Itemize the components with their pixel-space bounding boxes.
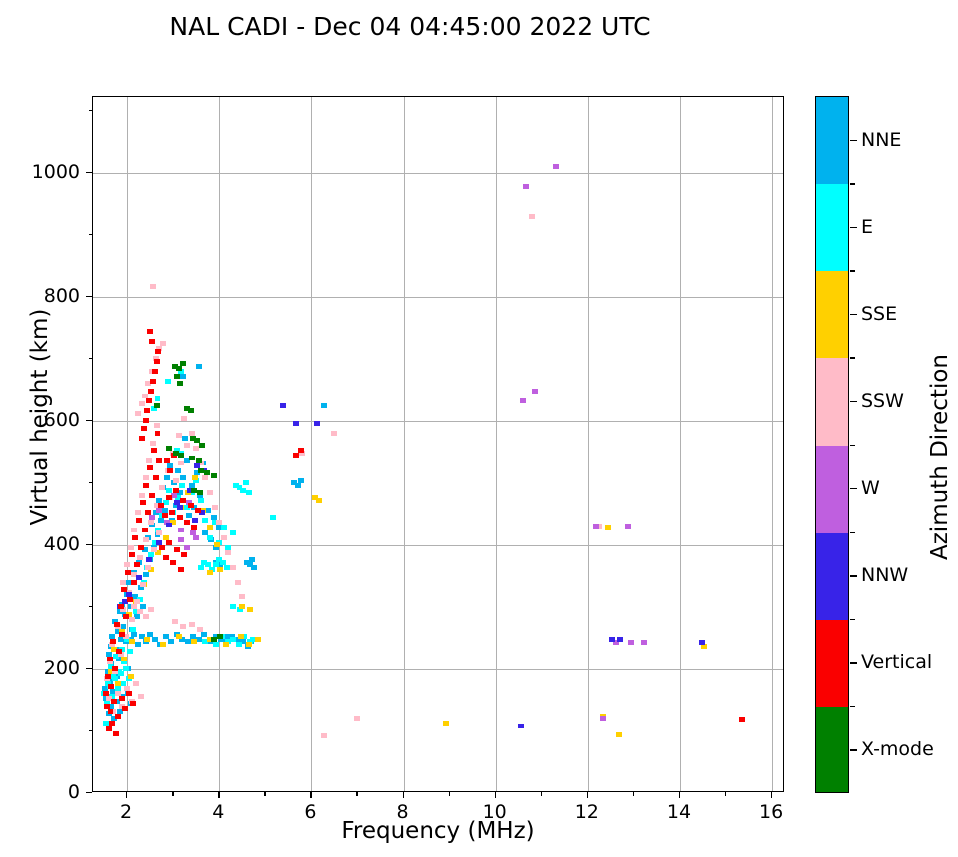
- scatter-point: [155, 349, 161, 354]
- colorbar-tick-mark: [850, 314, 857, 315]
- scatter-point: [171, 493, 177, 498]
- colorbar-label-sse: SSE: [861, 303, 897, 325]
- scatter-point: [130, 701, 136, 706]
- scatter-point: [553, 164, 559, 169]
- scatter-point: [109, 721, 115, 726]
- scatter-point: [221, 525, 227, 530]
- scatter-point: [211, 473, 217, 478]
- colorbar-boundary-tick: [850, 357, 855, 358]
- scatter-point: [207, 535, 213, 540]
- scatter-point: [143, 483, 149, 488]
- colorbar-band-ssw[interactable]: [816, 358, 848, 445]
- scatter-point: [189, 456, 195, 461]
- scatter-point: [197, 627, 203, 632]
- scatter-point: [230, 565, 236, 570]
- scatter-point: [178, 453, 184, 458]
- scatter-point: [164, 458, 170, 463]
- scatter-point: [186, 513, 192, 518]
- scatter-point: [108, 684, 114, 689]
- scatter-point: [170, 560, 176, 565]
- scatter-point: [177, 381, 183, 386]
- x-tick-minor: [172, 792, 173, 796]
- scatter-point: [136, 518, 142, 523]
- y-tick-minor: [89, 730, 93, 731]
- y-tick-minor: [89, 234, 93, 235]
- scatter-point: [141, 426, 147, 431]
- x-tick-minor: [541, 792, 542, 796]
- scatter-point: [123, 666, 129, 671]
- colorbar-label-nnw: NNW: [861, 564, 908, 586]
- scatter-point: [235, 580, 241, 585]
- scatter-point: [532, 389, 538, 394]
- scatter-point: [239, 594, 245, 599]
- scatter-point: [180, 498, 186, 503]
- gridline-vertical: [404, 97, 405, 791]
- scatter-point: [605, 525, 611, 530]
- scatter-point: [177, 505, 183, 510]
- scatter-point: [148, 520, 154, 525]
- gridline-vertical: [772, 97, 773, 791]
- gridline-horizontal: [93, 297, 783, 298]
- scatter-point: [135, 411, 141, 416]
- x-tick-mark: [587, 792, 588, 798]
- scatter-point: [124, 562, 130, 567]
- scatter-point: [180, 374, 186, 379]
- x-tick-mark: [126, 792, 127, 798]
- scatter-point: [202, 518, 208, 523]
- scatter-point: [280, 403, 286, 408]
- scatter-point: [249, 557, 255, 562]
- y-tick-minor: [89, 606, 93, 607]
- scatter-point: [150, 284, 156, 289]
- scatter-point: [198, 498, 204, 503]
- colorbar-boundary-tick: [850, 270, 855, 271]
- scatter-point: [125, 570, 131, 575]
- scatter-point: [223, 642, 229, 647]
- scatter-point: [224, 565, 230, 570]
- scatter-point: [156, 458, 162, 463]
- scatter-point: [158, 503, 164, 508]
- scatter-point: [150, 379, 156, 384]
- scatter-point: [149, 515, 155, 520]
- scatter-point: [140, 500, 146, 505]
- scatter-point: [207, 570, 213, 575]
- scatter-point: [189, 622, 195, 627]
- scatter-point: [178, 528, 184, 533]
- colorbar-band-x-mode[interactable]: [816, 707, 848, 793]
- colorbar-tick-mark: [850, 749, 857, 750]
- scatter-point: [609, 637, 615, 642]
- colorbar[interactable]: [815, 96, 849, 793]
- scatter-point: [523, 184, 529, 189]
- plot-area[interactable]: [92, 96, 784, 792]
- scatter-point: [148, 389, 154, 394]
- scatter-point: [321, 403, 327, 408]
- gridline-vertical: [311, 97, 312, 791]
- scatter-point: [154, 403, 160, 408]
- scatter-point: [108, 709, 114, 714]
- scatter-point: [130, 627, 136, 632]
- scatter-point: [251, 565, 257, 570]
- scatter-point: [162, 513, 168, 518]
- scatter-point: [211, 637, 217, 642]
- scatter-point: [188, 408, 194, 413]
- figure-canvas: NAL CADI - Dec 04 04:45:00 2022 UTC 2468…: [0, 0, 958, 857]
- scatter-point: [114, 622, 120, 627]
- scatter-point: [118, 671, 124, 676]
- scatter-point: [131, 632, 137, 637]
- scatter-point: [123, 614, 129, 619]
- scatter-point: [593, 524, 599, 529]
- scatter-point: [195, 508, 201, 513]
- gridline-vertical: [219, 97, 220, 791]
- scatter-point: [180, 475, 186, 480]
- scatter-point: [230, 604, 236, 609]
- scatter-point: [156, 530, 162, 535]
- scatter-point: [135, 642, 141, 647]
- gridline-vertical: [588, 97, 589, 791]
- scatter-point: [164, 475, 170, 480]
- scatter-point: [163, 555, 169, 560]
- scatter-point: [138, 694, 144, 699]
- scatter-point: [139, 401, 145, 406]
- gridline-horizontal: [93, 421, 783, 422]
- scatter-point: [143, 614, 149, 619]
- scatter-point: [143, 418, 149, 423]
- scatter-point: [443, 721, 449, 726]
- scatter-point: [314, 421, 320, 426]
- x-tick-minor: [633, 792, 634, 796]
- colorbar-label-ssw: SSW: [861, 390, 904, 412]
- scatter-point: [105, 674, 111, 679]
- scatter-point: [739, 717, 745, 722]
- scatter-point: [207, 525, 213, 530]
- scatter-point: [148, 607, 154, 612]
- scatter-point: [188, 503, 194, 508]
- colorbar-label-e: E: [861, 216, 873, 238]
- scatter-point: [132, 535, 138, 540]
- scatter-point: [147, 329, 153, 334]
- scatter-point: [331, 431, 337, 436]
- scatter-point: [185, 639, 191, 644]
- colorbar-label-nne: NNE: [861, 129, 901, 151]
- scatter-point: [140, 582, 146, 587]
- scatter-point: [112, 666, 118, 671]
- scatter-point: [198, 468, 204, 473]
- scatter-point: [129, 639, 135, 644]
- scatter-point: [174, 500, 180, 505]
- scatter-point: [121, 587, 127, 592]
- scatter-point: [160, 642, 166, 647]
- scatter-point: [131, 580, 137, 585]
- scatter-point: [207, 490, 213, 495]
- scatter-point: [181, 552, 187, 557]
- y-tick-mark: [86, 544, 92, 545]
- scatter-point: [243, 480, 249, 485]
- gridline-horizontal: [93, 669, 783, 670]
- scatter-point: [166, 446, 172, 451]
- colorbar-tick-mark: [850, 227, 857, 228]
- scatter-point: [146, 557, 152, 562]
- scatter-point: [321, 733, 327, 738]
- scatter-point: [146, 398, 152, 403]
- scatter-point: [193, 535, 199, 540]
- scatter-point: [154, 359, 160, 364]
- scatter-point: [116, 649, 122, 654]
- scatter-point: [121, 657, 127, 662]
- scatter-point: [173, 488, 179, 493]
- colorbar-boundary-tick: [850, 619, 855, 620]
- x-tick-minor: [449, 792, 450, 796]
- scatter-point: [177, 515, 183, 520]
- scatter-point: [137, 555, 143, 560]
- scatter-point: [199, 443, 205, 448]
- scatter-point: [138, 545, 144, 550]
- scatter-point: [174, 547, 180, 552]
- scatter-point: [165, 379, 171, 384]
- gridline-horizontal: [93, 545, 783, 546]
- y-tick-label: 200: [14, 657, 80, 679]
- scatter-point: [166, 495, 172, 500]
- scatter-point: [173, 478, 179, 483]
- scatter-point: [236, 642, 242, 647]
- scatter-point: [628, 640, 634, 645]
- scatter-point: [178, 567, 184, 572]
- scatter-point: [190, 530, 196, 535]
- scatter-point: [119, 632, 125, 637]
- scatter-point: [298, 448, 304, 453]
- scatter-point: [701, 644, 707, 649]
- scatter-point: [293, 453, 299, 458]
- scatter-point: [134, 614, 140, 619]
- x-tick-minor: [264, 792, 265, 796]
- scatter-point: [166, 540, 172, 545]
- scatter-point: [221, 535, 227, 540]
- colorbar-boundary-tick: [850, 532, 855, 533]
- scatter-point: [520, 398, 526, 403]
- x-tick-mark: [403, 792, 404, 798]
- scatter-point: [159, 485, 165, 490]
- scatter-point: [155, 431, 161, 436]
- scatter-point: [143, 537, 149, 542]
- scatter-point: [192, 475, 198, 480]
- y-tick-mark: [86, 668, 92, 669]
- scatter-point: [145, 565, 151, 570]
- scatter-point: [168, 639, 174, 644]
- scatter-point: [518, 724, 524, 729]
- colorbar-boundary-tick: [850, 445, 855, 446]
- colorbar-tick-mark: [850, 401, 857, 402]
- scatter-point: [246, 490, 252, 495]
- scatter-point: [107, 657, 113, 662]
- colorbar-tick-mark: [850, 662, 857, 663]
- scatter-point: [154, 423, 160, 428]
- scatter-point: [167, 468, 173, 473]
- gridline-vertical: [680, 97, 681, 791]
- scatter-point: [217, 634, 223, 639]
- scatter-point: [216, 520, 222, 525]
- scatter-point: [184, 520, 190, 525]
- y-tick-mark: [86, 420, 92, 421]
- scatter-point: [225, 550, 231, 555]
- colorbar-band-vertical[interactable]: [816, 620, 848, 707]
- y-tick-mark: [86, 172, 92, 173]
- scatter-point: [160, 341, 166, 346]
- colorbar-band-e[interactable]: [816, 184, 848, 271]
- scatter-point: [246, 642, 252, 647]
- scatter-point: [144, 408, 150, 413]
- scatter-point: [175, 468, 181, 473]
- x-tick-mark: [310, 792, 311, 798]
- scatter-point: [180, 361, 186, 366]
- scatter-point: [149, 339, 155, 344]
- gridline-horizontal: [93, 173, 783, 174]
- scatter-point: [239, 604, 245, 609]
- scatter-point: [169, 510, 175, 515]
- scatter-point: [176, 366, 182, 371]
- scatter-point: [298, 478, 304, 483]
- scatter-point: [270, 515, 276, 520]
- y-tick-label: 1000: [14, 161, 80, 183]
- scatter-point: [106, 726, 112, 731]
- scatter-point: [133, 681, 139, 686]
- colorbar-boundary-tick: [850, 183, 855, 184]
- x-tick-mark: [771, 792, 772, 798]
- scatter-point: [120, 580, 126, 585]
- colorbar-tick-mark: [850, 488, 857, 489]
- gridline-vertical: [496, 97, 497, 791]
- scatter-point: [118, 604, 124, 609]
- scatter-point: [617, 637, 623, 642]
- scatter-point: [113, 731, 119, 736]
- scatter-point: [205, 508, 211, 513]
- scatter-point: [238, 634, 244, 639]
- scatter-point: [131, 528, 137, 533]
- scatter-point: [316, 498, 322, 503]
- scatter-point: [184, 443, 190, 448]
- scatter-point: [196, 364, 202, 369]
- scatter-point: [179, 483, 185, 488]
- scatter-point: [143, 572, 149, 577]
- scatter-point: [136, 575, 142, 580]
- colorbar-band-nnw[interactable]: [816, 533, 848, 620]
- scatter-point: [139, 436, 145, 441]
- colorbar-label-vertical: Vertical: [861, 651, 932, 673]
- scatter-point: [127, 597, 133, 602]
- scatter-point: [152, 369, 158, 374]
- scatter-point: [166, 523, 172, 528]
- scatter-point: [354, 716, 360, 721]
- chart-title: NAL CADI - Dec 04 04:45:00 2022 UTC: [0, 12, 820, 41]
- scatter-point: [159, 545, 165, 550]
- scatter-point: [129, 617, 135, 622]
- scatter-point: [202, 475, 208, 480]
- scatter-point: [146, 458, 152, 463]
- scatter-point: [110, 639, 116, 644]
- colorbar-title: Azimuth Direction: [927, 307, 953, 607]
- scatter-point: [143, 475, 149, 480]
- scatter-point: [126, 691, 132, 696]
- y-tick-mark: [86, 296, 92, 297]
- scatter-point: [135, 510, 141, 515]
- scatter-point: [217, 567, 223, 572]
- x-axis-label: Frequency (MHz): [92, 818, 784, 844]
- scatter-point: [178, 537, 184, 542]
- scatter-point: [129, 552, 135, 557]
- scatter-point: [180, 624, 186, 629]
- scatter-point: [600, 716, 606, 721]
- scatter-point: [255, 637, 261, 642]
- scatter-point: [184, 545, 190, 550]
- y-axis-label: Virtual height (km): [27, 267, 53, 567]
- scatter-point: [182, 436, 188, 441]
- colorbar-band-sse[interactable]: [816, 271, 848, 358]
- scatter-point: [128, 545, 134, 550]
- scatter-point: [230, 530, 236, 535]
- scatter-point: [151, 448, 157, 453]
- scatter-point: [119, 696, 125, 701]
- scatter-point: [147, 465, 153, 470]
- scatter-point: [295, 483, 301, 488]
- scatter-point: [115, 681, 121, 686]
- scatter-point: [191, 639, 197, 644]
- scatter-point: [293, 421, 299, 426]
- y-tick-minor: [89, 358, 93, 359]
- scatter-point: [103, 691, 109, 696]
- scatter-point: [145, 510, 151, 515]
- colorbar-label-x-mode: X-mode: [861, 738, 934, 760]
- colorbar-band-w[interactable]: [816, 446, 848, 533]
- colorbar-band-nne[interactable]: [816, 97, 848, 184]
- scatter-point: [197, 490, 203, 495]
- scatter-point: [181, 416, 187, 421]
- scatter-point: [176, 433, 182, 438]
- scatter-point: [142, 528, 148, 533]
- y-tick-minor: [89, 482, 93, 483]
- scatter-point: [151, 547, 157, 552]
- scatter-point: [625, 524, 631, 529]
- x-tick-mark: [495, 792, 496, 798]
- y-tick-minor: [89, 110, 93, 111]
- scatter-point: [192, 518, 198, 523]
- scatter-point: [178, 461, 184, 466]
- scatter-point: [176, 634, 182, 639]
- scatter-point: [172, 619, 178, 624]
- y-tick-label: 0: [14, 781, 80, 803]
- colorbar-boundary-tick: [850, 706, 855, 707]
- scatter-point: [144, 637, 150, 642]
- scatter-point: [204, 470, 210, 475]
- scatter-point: [247, 607, 253, 612]
- y-tick-mark: [86, 792, 92, 793]
- scatter-point: [155, 396, 161, 401]
- colorbar-label-w: W: [861, 477, 880, 499]
- scatter-point: [198, 565, 204, 570]
- scatter-point: [128, 674, 134, 679]
- scatter-point: [150, 441, 156, 446]
- scatter-point: [213, 642, 219, 647]
- scatter-point: [115, 714, 121, 719]
- scatter-point: [191, 525, 197, 530]
- scatter-point: [212, 505, 218, 510]
- x-tick-minor: [356, 792, 357, 796]
- scatter-point: [174, 374, 180, 379]
- scatter-point: [196, 458, 202, 463]
- scatter-point: [149, 493, 155, 498]
- x-tick-mark: [218, 792, 219, 798]
- scatter-point: [139, 493, 145, 498]
- colorbar-tick-mark: [850, 140, 857, 141]
